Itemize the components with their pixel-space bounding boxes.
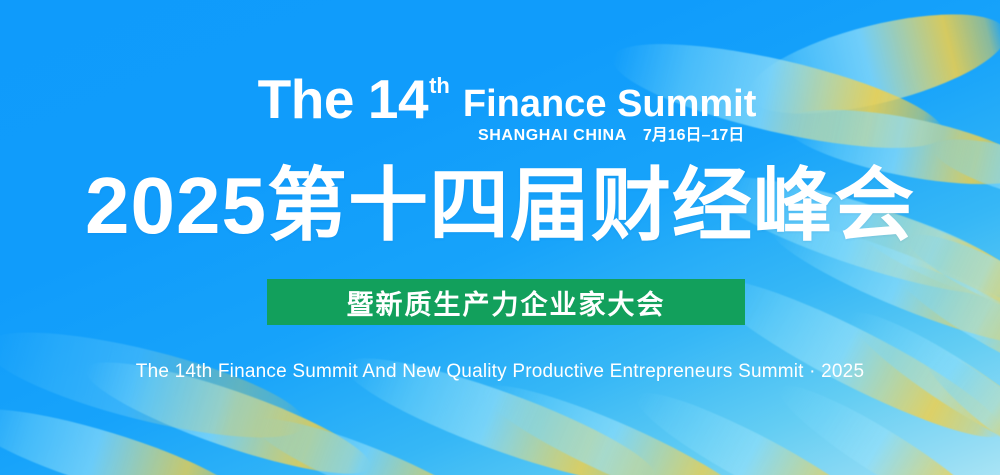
headline-the: The [258, 72, 354, 127]
headline-ordinal: th [429, 73, 450, 99]
subtitle-banner: 暨新质生产力企业家大会 [267, 279, 745, 325]
conference-poster: The14thFinance Summit SHANGHAI CHINA7月16… [0, 0, 1000, 475]
poster-content: The14thFinance Summit SHANGHAI CHINA7月16… [0, 0, 1000, 475]
subtitle-banner-label: 暨新质生产力企业家大会 [347, 283, 666, 322]
headline-date: 7月16日–17日 [643, 127, 744, 144]
headline-number: 14 [368, 72, 428, 127]
english-headline: The14thFinance Summit [0, 72, 1000, 127]
headline-event: Finance Summit [463, 83, 757, 126]
footer-english-line: The 14th Finance Summit And New Quality … [0, 361, 1000, 383]
main-title-chinese: 2025第十四届财经峰会 [0, 164, 1000, 248]
english-subline: SHANGHAI CHINA7月16日–17日 [478, 121, 744, 145]
headline-location: SHANGHAI CHINA [478, 127, 627, 144]
